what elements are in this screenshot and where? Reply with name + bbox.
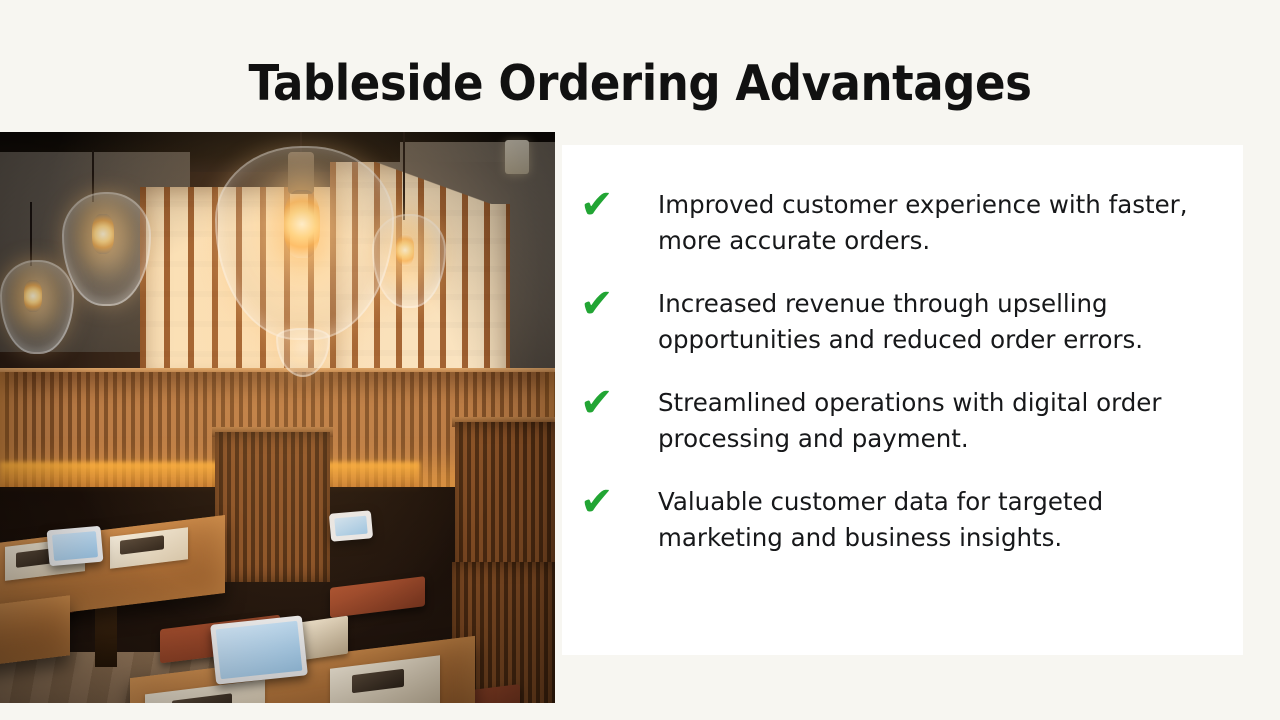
list-item: ✔ Valuable customer data for targeted ma… — [574, 484, 1234, 556]
light-bulb-icon — [396, 234, 414, 266]
list-item: ✔ Streamlined operations with digital or… — [574, 385, 1234, 457]
booth-divider-a — [215, 432, 330, 582]
page-title: Tableside Ordering Advantages — [51, 58, 1229, 109]
tablet-screen — [52, 531, 98, 561]
light-bulb-icon — [92, 214, 114, 254]
wall-sconce — [505, 140, 529, 174]
tableside-tablet — [47, 526, 104, 567]
warm-glow-strip — [0, 462, 420, 490]
condiment-caddy — [300, 616, 348, 661]
light-bulb-icon — [284, 190, 320, 258]
content-card: ✔ Improved customer experience with fast… — [562, 145, 1243, 655]
list-item-text: Increased revenue through upselling oppo… — [658, 286, 1233, 358]
light-bulb-icon — [24, 280, 42, 312]
tablet-screen — [216, 621, 303, 679]
tableside-tablet — [210, 615, 308, 684]
restaurant-interior-photo — [0, 132, 555, 703]
slide-canvas: Tableside Ordering Advantages — [0, 0, 1280, 720]
list-item-text: Valuable customer data for targeted mark… — [658, 484, 1233, 556]
list-item: ✔ Improved customer experience with fast… — [574, 187, 1234, 259]
tableside-tablet — [329, 510, 373, 542]
advantages-list: ✔ Improved customer experience with fast… — [574, 187, 1234, 556]
list-item-text: Streamlined operations with digital orde… — [658, 385, 1233, 457]
tablet-screen — [334, 516, 367, 537]
list-item-text: Improved customer experience with faster… — [658, 187, 1233, 259]
list-item: ✔ Increased revenue through upselling op… — [574, 286, 1234, 358]
green-check-icon: ✔ — [574, 484, 658, 520]
green-check-icon: ✔ — [574, 187, 658, 223]
green-check-icon: ✔ — [574, 286, 658, 322]
green-check-icon: ✔ — [574, 385, 658, 421]
lamp-cord — [30, 202, 32, 266]
lamp-cord — [403, 132, 405, 220]
